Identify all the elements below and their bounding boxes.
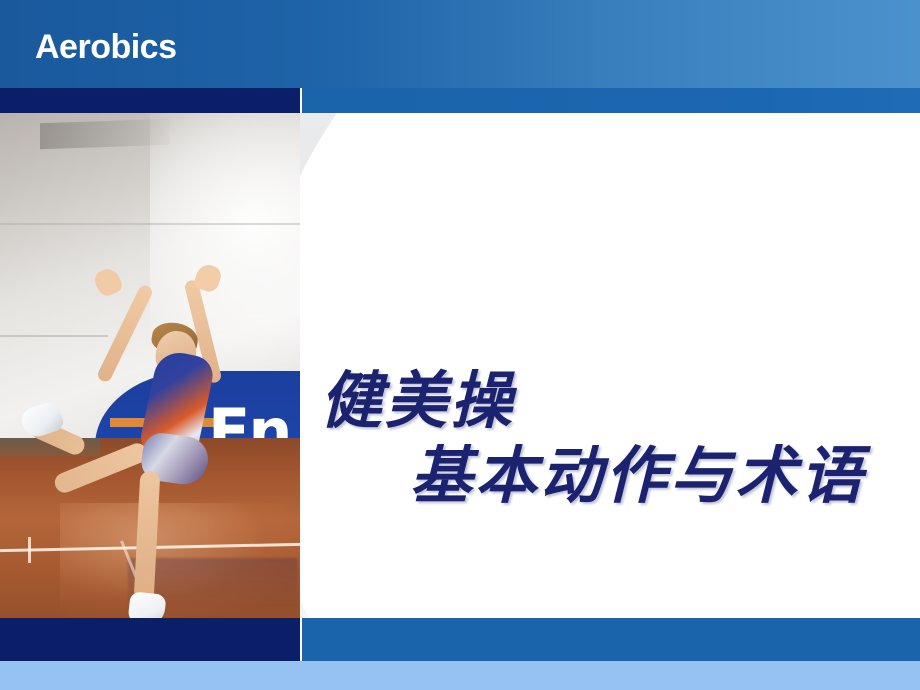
photo-wall-shadow <box>40 119 170 150</box>
photo-athlete-standing-shoe <box>127 591 166 618</box>
slide-header-bar: Aerobics <box>0 0 920 88</box>
photo-court-line-vertical <box>28 537 31 563</box>
slide-footer: 1 <box>0 661 920 690</box>
page-title: Aerobics <box>35 27 177 67</box>
photo-wall-seam-line <box>0 223 300 225</box>
header-accent-band-left <box>0 88 300 113</box>
main-title-line-1: 健美操 <box>320 368 515 434</box>
decorative-white-fill-right <box>760 113 920 618</box>
header-accent-band-right <box>302 88 920 113</box>
footer-accent-band-right <box>302 618 920 661</box>
main-title-line-2: 基本动作与术语 <box>410 443 865 509</box>
decorative-white-fill-top <box>430 113 920 173</box>
aerobics-athlete-photo: En <box>0 113 300 618</box>
photo-wall-seam-line-lower <box>0 335 108 337</box>
slide-body: En 健美操 基本动作与术语 <box>0 113 920 618</box>
footer-accent-band-left <box>0 618 300 661</box>
presentation-slide: Aerobics En <box>0 0 920 690</box>
